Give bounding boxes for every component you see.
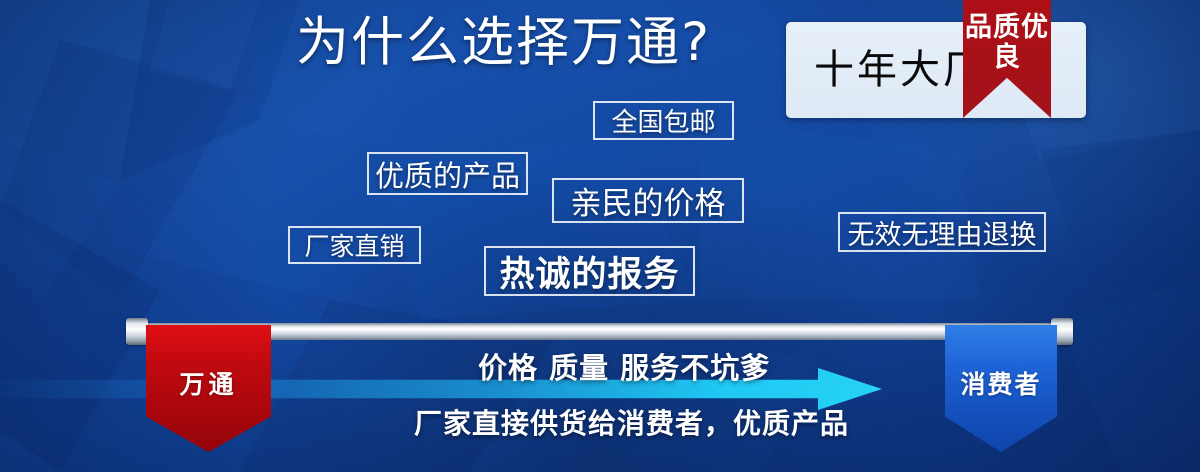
feature-tag-quality-products: 优质的产品	[367, 152, 528, 195]
promotional-banner: 为什么选择万通? 十年大厂 品质优良 全国包邮 优质的产品 亲民的价格 无效无理…	[0, 0, 1200, 472]
flow-source-label: 万通	[146, 325, 271, 397]
flow-source-banner: 万通	[146, 325, 271, 452]
flow-target-banner: 消费者	[945, 325, 1057, 452]
ribbon-label: 品质优良	[963, 0, 1051, 73]
feature-tag-free-returns: 无效无理由退换	[838, 212, 1046, 252]
feature-tag-nationwide-free-shipping: 全国包邮	[593, 101, 734, 140]
banner-rod	[140, 323, 1060, 340]
page-title: 为什么选择万通?	[296, 16, 711, 69]
feature-tag-factory-direct: 厂家直销	[288, 226, 421, 264]
feature-tag-sincere-service: 热诚的报务	[484, 246, 695, 296]
flow-caption-secondary: 厂家直接供货给消费者，优质产品	[414, 408, 849, 440]
feature-tag-affordable-price: 亲民的价格	[552, 178, 744, 223]
flow-target-label: 消费者	[945, 325, 1057, 397]
badge-main-label: 十年大厂	[814, 48, 986, 92]
rod-cap-left	[126, 318, 148, 345]
flow-caption-primary: 价格 质量 服务不坑爹	[478, 352, 770, 384]
